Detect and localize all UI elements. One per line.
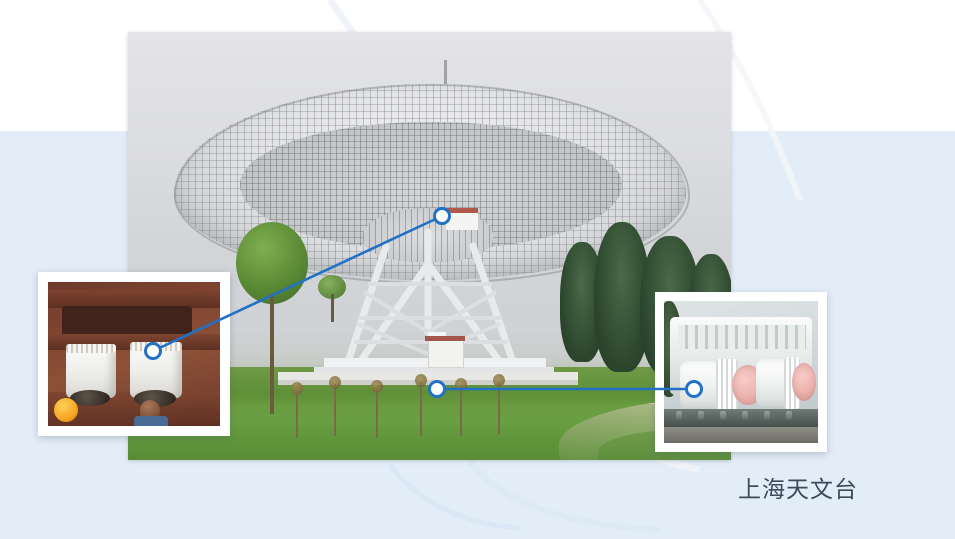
gearbox-closeup-new-photo — [664, 301, 818, 443]
machine-base-rail — [664, 409, 818, 427]
mid-tree-trunk — [331, 294, 334, 322]
sapling-crown — [415, 374, 427, 387]
slide-canvas: 上海天文台 — [0, 0, 955, 539]
rust-cavity — [62, 306, 192, 336]
sapling-crown — [455, 378, 467, 391]
gearbox-closeup-old-photo — [48, 282, 220, 426]
sapling — [420, 382, 422, 436]
base-bolt — [720, 411, 726, 420]
base-bolt — [698, 411, 704, 420]
sapling — [296, 390, 298, 438]
gearbox-closeup-new-frame — [655, 292, 827, 452]
base-bolt — [742, 411, 748, 420]
foreground-tree-crown — [236, 222, 308, 304]
equipment-hut — [428, 340, 464, 368]
sapling-crown — [329, 376, 341, 389]
sapling-crown — [493, 374, 505, 387]
slide-caption: 上海天文台 — [738, 470, 858, 504]
base-bolt — [786, 411, 792, 420]
worker-helmet — [54, 398, 78, 422]
sapling-crown — [371, 380, 383, 393]
sapling-crown — [291, 382, 303, 395]
motor-end-cover-right — [792, 363, 816, 401]
sapling — [376, 388, 378, 438]
motor-drum-right-ring — [130, 342, 182, 351]
sapling — [460, 386, 462, 436]
motor-drum-left-ring — [66, 344, 116, 353]
sapling — [498, 382, 500, 434]
base-bolt — [764, 411, 770, 420]
cooling-fins — [678, 325, 806, 349]
base-bolt — [676, 411, 682, 420]
gearbox-closeup-old-frame — [38, 272, 230, 436]
equipment-hut-roof — [425, 336, 465, 341]
gravel-ground — [664, 427, 818, 443]
sapling — [334, 384, 336, 436]
worker-torso — [134, 416, 168, 426]
foreground-tree-trunk — [270, 294, 274, 414]
